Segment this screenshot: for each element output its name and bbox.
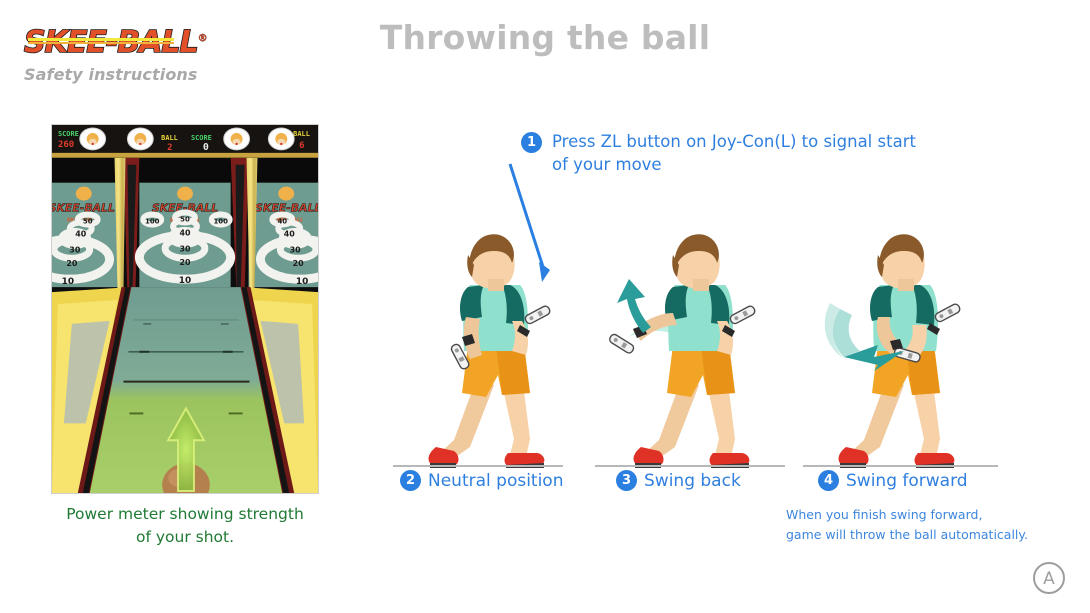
- step-1-text: Press ZL button on Joy-Con(L) to signal …: [552, 130, 916, 176]
- ground-line-3: [803, 465, 998, 467]
- svg-text:100: 100: [145, 217, 160, 225]
- step-number-4: 4: [818, 470, 839, 491]
- figure-neutral-position: [390, 225, 590, 475]
- svg-text:0: 0: [203, 142, 209, 153]
- figure-swing-back: [595, 225, 795, 475]
- circle-a-badge-icon: A: [1030, 559, 1068, 597]
- svg-text:30: 30: [179, 244, 191, 253]
- game-screenshot-panel: SCORE 260 BALL SCORE 2 0 BALL 6: [51, 124, 319, 494]
- joycon-right: [729, 305, 756, 325]
- svg-text:20: 20: [179, 258, 191, 267]
- step-4-text: Swing forward: [846, 471, 968, 491]
- skee-ball-game-screenshot: SCORE 260 BALL SCORE 2 0 BALL 6: [51, 124, 319, 494]
- screenshot-caption: Power meter showing strength of your sho…: [35, 503, 335, 549]
- svg-text:260: 260: [58, 140, 74, 150]
- svg-text:40: 40: [179, 228, 191, 237]
- svg-text:30: 30: [290, 245, 302, 254]
- ground-line-2: [595, 465, 785, 467]
- svg-text:10: 10: [296, 277, 308, 287]
- figure-sequence: [390, 225, 1020, 475]
- joycon-right: [934, 303, 961, 323]
- auto-throw-note: When you finish swing forward, game will…: [786, 505, 1046, 545]
- svg-text:100: 100: [213, 217, 228, 225]
- page-title: Throwing the ball: [0, 18, 1090, 57]
- svg-text:6: 6: [299, 141, 304, 151]
- step-number-3: 3: [616, 470, 637, 491]
- step-1-line-1: Press ZL button on Joy-Con(L) to signal …: [552, 130, 916, 153]
- note-line-2: game will throw the ball automatically.: [786, 525, 1046, 545]
- caption-line-1: Power meter showing strength: [35, 503, 335, 526]
- step-1-callout: 1 Press ZL button on Joy-Con(L) to signa…: [521, 130, 941, 176]
- step-number-1: 1: [521, 132, 542, 153]
- svg-text:10: 10: [179, 276, 191, 286]
- svg-text:40: 40: [75, 229, 87, 238]
- slide-root: SKEE-BALL® Safety instructions Throwing …: [0, 0, 1090, 613]
- step-number-2: 2: [400, 470, 421, 491]
- svg-text:SCORE: SCORE: [191, 134, 212, 142]
- step-2-label: 2 Neutral position: [400, 470, 564, 491]
- svg-text:40: 40: [284, 229, 296, 238]
- svg-text:10: 10: [62, 277, 74, 287]
- svg-text:SCORE: SCORE: [58, 130, 79, 138]
- step-2-text: Neutral position: [428, 471, 564, 491]
- joycon-right: [524, 305, 551, 325]
- joycon-left: [608, 333, 635, 354]
- svg-text:20: 20: [293, 259, 305, 268]
- step-1-line-2: of your move: [552, 153, 916, 176]
- step-3-label: 3 Swing back: [616, 470, 741, 491]
- ground-line-1: [393, 465, 563, 467]
- caption-line-2: of your shot.: [35, 526, 335, 549]
- step-3-text: Swing back: [644, 471, 741, 491]
- svg-text:2: 2: [167, 143, 172, 153]
- svg-text:20: 20: [66, 259, 78, 268]
- game-screenshot-art: SCORE 260 BALL SCORE 2 0 BALL 6: [52, 125, 318, 493]
- svg-text:A: A: [1043, 569, 1055, 589]
- svg-text:30: 30: [69, 245, 81, 254]
- note-line-1: When you finish swing forward,: [786, 505, 1046, 525]
- svg-text:BALL: BALL: [161, 134, 178, 142]
- swing-back-arrow-icon: [617, 279, 651, 333]
- step-4-label: 4 Swing forward: [818, 470, 968, 491]
- svg-text:50: 50: [83, 217, 93, 225]
- svg-text:40: 40: [277, 217, 287, 225]
- svg-text:50: 50: [180, 215, 190, 223]
- logo-subtitle: Safety instructions: [24, 65, 224, 84]
- svg-text:BALL: BALL: [293, 130, 310, 138]
- figure-swing-forward: [800, 225, 1000, 475]
